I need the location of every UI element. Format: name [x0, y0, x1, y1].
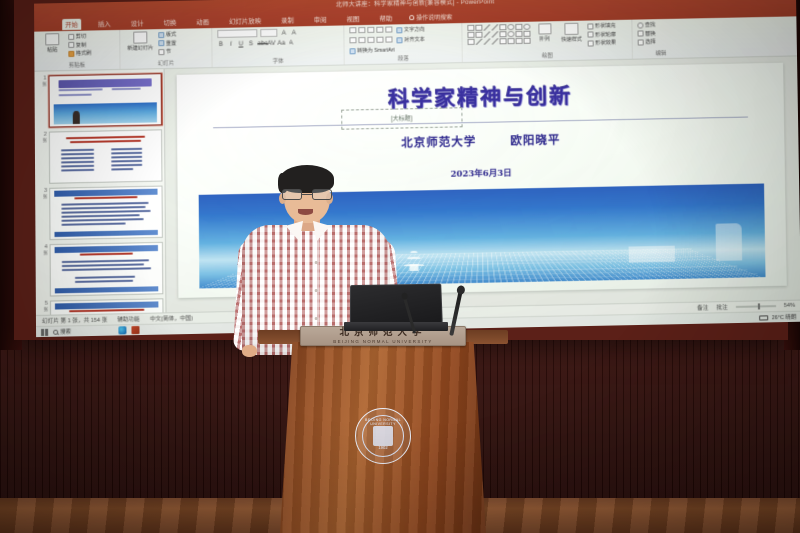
- shape-outline-label: 形状轮廓: [595, 30, 616, 37]
- thumb-line: [112, 88, 141, 90]
- title-placeholder[interactable]: [大标题]: [341, 107, 463, 129]
- smartart-icon: [350, 48, 356, 54]
- thumb-text: [62, 214, 140, 217]
- thumb-text: [62, 263, 144, 266]
- accessibility-indicator[interactable]: 辅助功能: [117, 315, 140, 324]
- shape-outline-icon: [587, 31, 593, 37]
- thumb-text: [61, 161, 94, 163]
- smartart-label: 转换为 SmartArt: [357, 46, 395, 54]
- arrange-label: 排列: [539, 35, 549, 42]
- shape-rect-icon[interactable]: [467, 25, 474, 31]
- copy-button[interactable]: 复制: [68, 41, 91, 48]
- shadow-button[interactable]: S: [247, 40, 254, 47]
- quick-styles-button[interactable]: 快速样式: [558, 23, 584, 44]
- thumb-heading: [70, 140, 141, 144]
- ribbon-group-clipboard: 粘贴 剪切 复制: [34, 30, 120, 71]
- thumb-text: [61, 169, 94, 171]
- new-slide-icon: [133, 31, 147, 43]
- decrease-font-size-button[interactable]: A: [290, 29, 297, 36]
- increase-font-size-button[interactable]: A: [280, 29, 287, 36]
- cut-label: 剪切: [76, 33, 86, 40]
- thumbnail-number: 1张: [36, 75, 46, 127]
- shape-box-icon[interactable]: [515, 24, 522, 30]
- align-text-icon: [396, 37, 402, 43]
- thumb-text: [61, 149, 94, 151]
- slide-title[interactable]: 科学家精神与创新: [231, 77, 729, 117]
- copy-icon: [68, 42, 74, 48]
- lightbulb-icon: [409, 15, 414, 20]
- shirt-collar: [286, 223, 330, 243]
- shape-fill-button[interactable]: 形状填充: [587, 22, 615, 30]
- skyline-right: [628, 245, 674, 263]
- numbering-button[interactable]: [358, 27, 365, 33]
- replace-button[interactable]: 替换: [637, 29, 683, 37]
- emblem-inner-ring: BEIJING NORMAL UNIVERSITY 1902: [362, 415, 404, 457]
- thumb-text: [62, 218, 144, 221]
- presenter-laptop: [344, 284, 448, 332]
- group-label-paragraph: 段落: [345, 53, 462, 63]
- font-color-button[interactable]: A: [287, 39, 294, 46]
- shape-curve-icon[interactable]: [483, 32, 490, 38]
- thumb-text: [111, 152, 142, 154]
- thumb-text: [61, 210, 150, 213]
- bullets-button[interactable]: [349, 27, 356, 33]
- pagoda-silhouette-small: [403, 247, 425, 272]
- justify-button[interactable]: [376, 37, 383, 43]
- decrease-indent-button[interactable]: [367, 27, 374, 33]
- shape-rect2-icon[interactable]: [467, 32, 474, 38]
- increase-indent-button[interactable]: [376, 27, 383, 33]
- powerpoint-icon[interactable]: [131, 326, 139, 334]
- select-button[interactable]: 选择: [638, 38, 684, 46]
- thumb-text: [61, 153, 94, 155]
- tab-animations[interactable]: 动画: [193, 16, 212, 27]
- speaker-hand-left: [242, 345, 257, 357]
- thumb-text: [111, 156, 142, 158]
- thumb-text: [111, 160, 142, 162]
- shape-arrow-icon[interactable]: [491, 24, 498, 30]
- shirt-button: [315, 289, 318, 292]
- title-placeholder-label: [大标题]: [391, 113, 412, 122]
- align-text-label: 对齐文本: [404, 36, 425, 43]
- thumbnail-row[interactable]: 1张: [36, 73, 162, 128]
- align-right-button[interactable]: [367, 37, 374, 43]
- tab-design[interactable]: 设计: [128, 17, 147, 28]
- tell-me-search[interactable]: 操作说明搜索: [409, 12, 452, 22]
- shape-pentagon-icon[interactable]: [515, 31, 522, 37]
- thumbnail-number: 5张: [38, 301, 48, 315]
- thumb-text: [111, 148, 142, 150]
- laptop-screen: [350, 284, 443, 325]
- slide-thumbnail-4[interactable]: [50, 242, 164, 297]
- ribbon-group-paragraph: 文字方向 对齐文本: [344, 23, 462, 64]
- slide-thumbnail-1[interactable]: [48, 73, 162, 127]
- shape-triangle-icon[interactable]: [475, 32, 482, 38]
- shape-effects-icon: [588, 40, 594, 46]
- speaker-glasses: [281, 189, 333, 201]
- slide-thumbnail-3[interactable]: [49, 186, 163, 241]
- shape-rounded-icon[interactable]: [475, 25, 482, 31]
- reset-label: 重置: [166, 39, 176, 46]
- thumb-text: [61, 206, 146, 209]
- shape-brace-right-icon[interactable]: [508, 38, 515, 44]
- section-label: 节: [166, 48, 171, 55]
- thumb-text: [75, 280, 133, 283]
- shape-arc-icon[interactable]: [492, 38, 499, 44]
- notes-button[interactable]: 备注: [697, 303, 708, 311]
- language-indicator[interactable]: 中文(简体，中国): [150, 314, 193, 323]
- edge-browser-icon[interactable]: [118, 326, 126, 334]
- change-case-button[interactable]: Aa: [277, 40, 284, 47]
- editor-body: 1张 2: [34, 56, 800, 315]
- shape-square-icon[interactable]: [499, 24, 506, 30]
- thumb-footer-band: [55, 286, 158, 293]
- thumb-text: [61, 165, 94, 167]
- find-button[interactable]: 查找: [637, 21, 683, 29]
- skyscraper-right: [716, 223, 743, 261]
- align-left-button[interactable]: [349, 37, 356, 43]
- shape-star-icon[interactable]: [516, 38, 523, 44]
- laptop-keyboard: [344, 322, 448, 331]
- tab-view[interactable]: 视图: [344, 13, 363, 24]
- group-label-editing: 编辑: [633, 49, 689, 58]
- shape-diamond-icon[interactable]: [499, 31, 506, 37]
- shirt-button: [315, 317, 318, 320]
- search-icon: [637, 22, 643, 28]
- columns-button[interactable]: [385, 36, 392, 42]
- tab-record[interactable]: 录制: [278, 14, 297, 25]
- thumb-text: [62, 222, 127, 225]
- paintbrush-icon: [68, 50, 74, 56]
- university-emblem: BEIJING NORMAL UNIVERSITY 1902: [355, 408, 411, 464]
- speaker-mouth: [298, 209, 313, 215]
- ribbon-group-editing: 查找 替换 选择 编辑: [632, 19, 689, 59]
- text-direction-button[interactable]: 文字方向: [396, 26, 424, 34]
- lectern-institution-en: BEIJING NORMAL UNIVERSITY: [333, 339, 433, 344]
- lecture-hall-scene: 北师大讲座：科学家精神与创新[兼容模式] - PowerPoint xiaopi…: [0, 0, 800, 533]
- text-direction-icon: [396, 27, 402, 33]
- reset-button[interactable]: 重置: [158, 39, 176, 46]
- cut-button[interactable]: 剪切: [68, 33, 91, 40]
- thumb-text: [62, 259, 149, 262]
- thumb-header-band: [55, 245, 157, 253]
- thumb-figure-silhouette: [73, 111, 80, 124]
- shape-callout-icon[interactable]: [468, 39, 475, 45]
- italic-button[interactable]: I: [227, 41, 234, 48]
- ribbon-group-slides: 新建幻灯片 版式 重置: [120, 28, 212, 69]
- shape-banner-icon[interactable]: [524, 38, 531, 44]
- shape-outline-button[interactable]: 形状轮廓: [587, 30, 615, 38]
- tab-slideshow[interactable]: 幻灯片放映: [226, 15, 264, 27]
- scissors-icon: [68, 33, 74, 39]
- ribbon-group-font: A A B I U S abc AV Aa A: [212, 25, 344, 67]
- group-label-slides: 幻灯片: [120, 58, 211, 68]
- tab-review[interactable]: 审阅: [311, 14, 330, 25]
- align-center-button[interactable]: [358, 37, 365, 43]
- new-slide-button[interactable]: 新建幻灯片: [125, 31, 155, 52]
- thumb-line: [58, 88, 102, 90]
- arrange-icon: [538, 23, 551, 34]
- thumb-text: [75, 276, 135, 279]
- section-button[interactable]: 节: [158, 48, 176, 55]
- character-spacing-button[interactable]: AV: [267, 40, 274, 47]
- paste-icon: [45, 33, 59, 45]
- shape-effects-button[interactable]: 形状效果: [588, 39, 616, 47]
- quick-styles-icon: [564, 23, 578, 35]
- thumbnail-row[interactable]: 3张: [37, 186, 163, 241]
- shape-line-icon[interactable]: [483, 24, 490, 30]
- zoom-slider[interactable]: [736, 305, 776, 308]
- select-icon: [638, 39, 644, 45]
- font-name-combo[interactable]: [217, 29, 257, 38]
- replace-label: 替换: [645, 30, 655, 37]
- taskbar-search[interactable]: 搜索: [53, 327, 113, 336]
- tab-help[interactable]: 帮助: [376, 12, 395, 23]
- thumb-header-band: [55, 189, 157, 197]
- thumb-line: [58, 94, 91, 96]
- new-slide-label: 新建幻灯片: [127, 44, 153, 52]
- thumbnail-number: 4张: [38, 244, 48, 297]
- font-size-combo[interactable]: [260, 29, 277, 37]
- shirt-button: [315, 261, 318, 264]
- layout-icon: [158, 32, 164, 38]
- thumb-text: [61, 202, 148, 205]
- layout-label: 版式: [166, 31, 176, 38]
- bold-button[interactable]: B: [217, 41, 224, 48]
- thumb-text: [62, 267, 151, 270]
- underline-button[interactable]: U: [237, 40, 244, 47]
- thumb-text: [111, 168, 133, 170]
- comments-button[interactable]: 批注: [716, 303, 727, 311]
- paste-button[interactable]: 粘贴: [39, 33, 65, 54]
- select-label: 选择: [645, 38, 655, 45]
- thumb-text: [61, 157, 94, 159]
- text-direction-label: 文字方向: [404, 26, 425, 33]
- battery-icon[interactable]: [759, 315, 768, 320]
- shape-effects-label: 形状效果: [595, 39, 616, 46]
- slide-affiliation: 北京师范大学: [401, 133, 476, 151]
- thumb-footer-band: [55, 230, 157, 237]
- tab-home[interactable]: 开始: [62, 19, 81, 30]
- slide-title-rule: [213, 117, 747, 129]
- thumb-hero-image: [54, 102, 156, 124]
- strikethrough-button[interactable]: abc: [257, 40, 264, 47]
- slide-counter: 幻灯片 第 1 张，共 154 张: [42, 316, 107, 325]
- format-painter-button[interactable]: 格式刷: [68, 50, 91, 57]
- format-painter-label: 格式刷: [76, 50, 92, 57]
- line-spacing-button[interactable]: [385, 26, 392, 32]
- thumb-heading: [80, 253, 133, 256]
- tab-insert[interactable]: 插入: [95, 18, 114, 29]
- arrange-button[interactable]: 排列: [533, 23, 555, 42]
- shape-scribble-icon[interactable]: [484, 39, 491, 45]
- weather-indicator[interactable]: 26°C 晴朗: [772, 313, 797, 322]
- tab-transitions[interactable]: 切换: [161, 17, 180, 28]
- shape-fill-icon: [587, 23, 593, 29]
- shape-ellipse-icon[interactable]: [507, 31, 514, 37]
- zoom-level[interactable]: 54%: [784, 303, 795, 309]
- paste-label: 粘贴: [47, 46, 57, 53]
- reset-icon: [158, 40, 164, 46]
- lectern: 北京师范大学 BEIJING NORMAL UNIVERSITY BEIJING…: [258, 330, 508, 533]
- tell-me-label: 操作说明搜索: [416, 12, 452, 22]
- group-label-clipboard: 剪贴板: [34, 60, 119, 70]
- emblem-year: 1902: [363, 445, 403, 450]
- thumb-text: [111, 164, 142, 166]
- slide-thumbnail-pane[interactable]: 1张 2: [34, 69, 166, 315]
- shape-connector-icon[interactable]: [491, 31, 498, 37]
- section-icon: [158, 49, 164, 55]
- group-label-font: 字体: [213, 55, 344, 66]
- shape-brace-left-icon[interactable]: [500, 38, 507, 44]
- thumb-heading: [75, 196, 137, 200]
- slide-thumbnail-2[interactable]: [49, 129, 163, 183]
- quick-styles-label: 快速样式: [561, 36, 582, 43]
- thumbnail-row[interactable]: 4张: [38, 242, 164, 297]
- shapes-gallery[interactable]: [467, 24, 530, 45]
- shape-oval-icon[interactable]: [507, 24, 514, 30]
- slide-subtitle[interactable]: 北京师范大学 欧阳晓平: [250, 129, 712, 154]
- emblem-arc-text: BEIJING NORMAL UNIVERSITY: [363, 418, 403, 426]
- slide-presenter: 欧阳晓平: [510, 132, 560, 149]
- ribbon-group-drawing: 排列 快速样式 形状填充: [462, 20, 633, 62]
- layout-button[interactable]: 版式: [158, 31, 176, 38]
- find-label: 查找: [645, 21, 655, 28]
- emblem-crest-icon: [373, 426, 393, 446]
- search-placeholder: 搜索: [60, 327, 71, 335]
- shape-freeform-icon[interactable]: [476, 39, 483, 45]
- shape-circle-icon[interactable]: [523, 24, 530, 30]
- thumbnail-number: 2张: [37, 132, 47, 184]
- thumbnail-number: 3张: [37, 188, 47, 241]
- shape-fill-label: 形状填充: [595, 22, 616, 29]
- start-button-icon[interactable]: [41, 328, 48, 335]
- thumbnail-row[interactable]: 2张: [37, 129, 163, 184]
- copy-label: 复制: [76, 41, 86, 48]
- shape-hexagon-icon[interactable]: [523, 31, 530, 37]
- replace-icon: [638, 30, 644, 36]
- align-text-button[interactable]: 对齐文本: [396, 36, 424, 44]
- search-icon: [53, 329, 58, 334]
